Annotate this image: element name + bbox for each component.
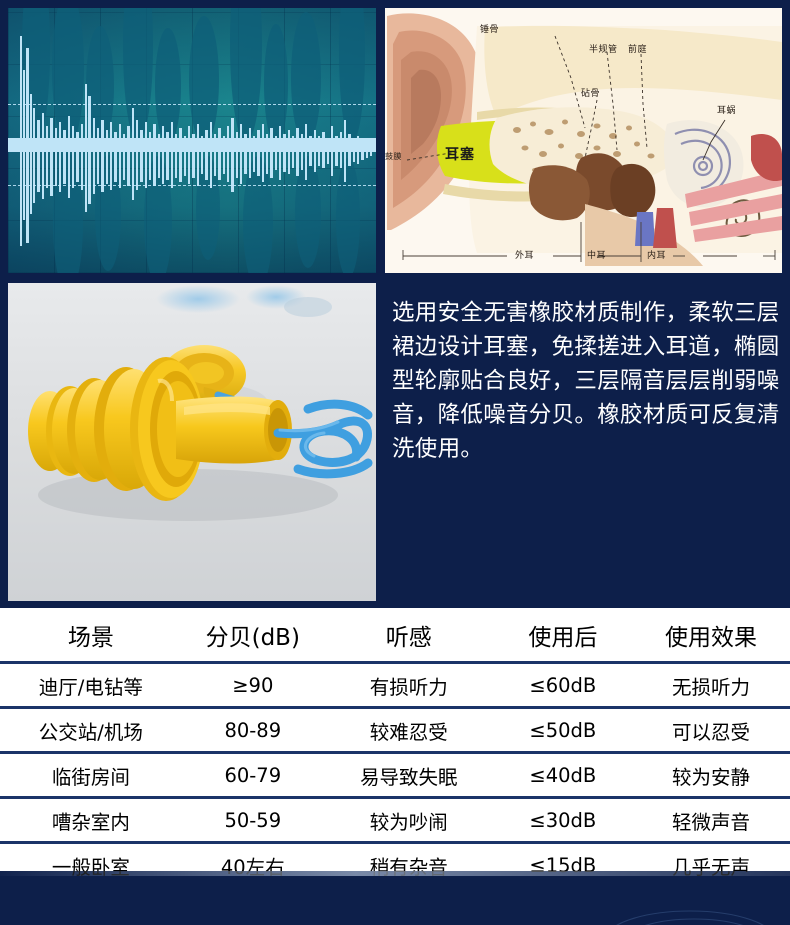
- anatomy-label-semicircular-canals: 半规管: [589, 42, 618, 55]
- cell-after-use: ≤50dB: [494, 708, 632, 753]
- cell-after-use: ≤60dB: [494, 663, 632, 708]
- table-header-perception: 听感: [324, 608, 494, 663]
- banner-cord-graphic: [560, 875, 790, 925]
- cell-effect: 无损听力: [632, 663, 790, 708]
- cell-decibel: 80-89: [182, 708, 324, 753]
- anatomy-label-middle-ear: 中耳: [587, 248, 606, 261]
- cell-after-use: ≤40dB: [494, 753, 632, 798]
- anatomy-label-vestibule: 前庭: [628, 42, 647, 55]
- cell-perception: 易导致失眠: [324, 753, 494, 798]
- product-description-text: 选用安全无害橡胶材质制作，柔软三层裙边设计耳塞，免揉搓进入耳道，椭圆型轮廓贴合良…: [392, 296, 784, 466]
- product-detail-page: 锤骨 半规管 前庭 砧骨 耳蜗 鼓膜 外耳 中耳 内耳 耳塞: [0, 0, 790, 925]
- table-row: 公交站/机场 80-89 较难忍受 ≤50dB 可以忍受: [0, 708, 790, 753]
- noise-level-table: 场景 分贝(dB) 听感 使用后 使用效果 迪厅/电钻等 ≥90 有损听力 ≤6…: [0, 608, 790, 871]
- table-header-scene: 场景: [0, 608, 182, 663]
- cell-perception: 有损听力: [324, 663, 494, 708]
- cell-effect: 较为安静: [632, 753, 790, 798]
- cell-effect: 轻微声音: [632, 798, 790, 843]
- table-header-row: 场景 分贝(dB) 听感 使用后 使用效果: [0, 608, 790, 663]
- waveform-graphic: [8, 8, 376, 273]
- cell-decibel: 50-59: [182, 798, 324, 843]
- anatomy-label-eardrum: 鼓膜: [385, 151, 402, 162]
- cell-perception: 较为吵闹: [324, 798, 494, 843]
- table-header-decibel: 分贝(dB): [182, 608, 324, 663]
- waveform-threshold-line-upper: [8, 104, 376, 105]
- cell-decibel: 60-79: [182, 753, 324, 798]
- cell-scene: 临街房间: [0, 753, 182, 798]
- ear-anatomy-graphic: [385, 8, 782, 273]
- table-row: 迪厅/电钻等 ≥90 有损听力 ≤60dB 无损听力: [0, 663, 790, 708]
- cell-scene: 嘈杂室内: [0, 798, 182, 843]
- table-row: 嘈杂室内 50-59 较为吵闹 ≤30dB 轻微声音: [0, 798, 790, 843]
- product-photo-earplug: [8, 283, 376, 601]
- cell-scene: 迪厅/电钻等: [0, 663, 182, 708]
- cell-after-use: ≤30dB: [494, 798, 632, 843]
- cell-decibel: ≥90: [182, 663, 324, 708]
- audio-waveform-image: [8, 8, 376, 273]
- table-header-after-use: 使用后: [494, 608, 632, 663]
- anatomy-label-earplug: 耳塞: [445, 144, 475, 164]
- anatomy-label-cochlea: 耳蜗: [717, 103, 736, 116]
- anatomy-label-inner-ear: 内耳: [647, 248, 666, 261]
- anatomy-label-incus: 砧骨: [581, 86, 600, 99]
- table-row: 临街房间 60-79 易导致失眠 ≤40dB 较为安静: [0, 753, 790, 798]
- bottom-banner-strip: [0, 871, 790, 925]
- waveform-threshold-line-lower: [8, 185, 376, 186]
- anatomy-label-malleus: 锤骨: [480, 22, 499, 35]
- anatomy-label-outer-ear: 外耳: [515, 248, 534, 261]
- ear-anatomy-diagram: 锤骨 半规管 前庭 砧骨 耳蜗 鼓膜 外耳 中耳 内耳 耳塞: [385, 8, 782, 273]
- table-header-effect: 使用效果: [632, 608, 790, 663]
- cell-effect: 可以忍受: [632, 708, 790, 753]
- cell-scene: 公交站/机场: [0, 708, 182, 753]
- cell-perception: 较难忍受: [324, 708, 494, 753]
- product-photo-graphic: [8, 283, 376, 601]
